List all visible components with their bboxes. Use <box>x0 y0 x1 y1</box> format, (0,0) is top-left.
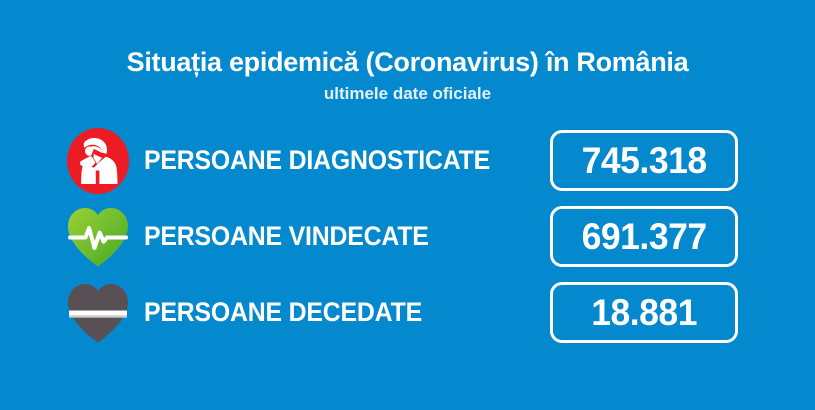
heart-pulse-icon <box>62 203 134 271</box>
value-diagnosed: 745.318 <box>581 142 706 179</box>
stat-row-diagnosed: PERSOANE DIAGNOSTICATE 745.318 <box>0 130 815 191</box>
covid-statistics-infographic: Situația epidemică (Coronavirus) în Româ… <box>0 0 815 410</box>
value-box-recovered: 691.377 <box>550 206 738 267</box>
page-subtitle: ultimele date oficiale <box>0 85 815 104</box>
header: Situația epidemică (Coronavirus) în Româ… <box>0 48 815 103</box>
stat-row-recovered: PERSOANE VINDECATE 691.377 <box>0 206 815 267</box>
statistics-list: PERSOANE DIAGNOSTICATE 745.318 <box>0 130 815 358</box>
value-box-deceased: 18.881 <box>550 282 738 343</box>
value-box-diagnosed: 745.318 <box>550 130 738 191</box>
sick-person-icon <box>62 127 134 195</box>
value-recovered: 691.377 <box>581 218 706 255</box>
value-deceased: 18.881 <box>591 294 697 331</box>
page-title: Situația epidemică (Coronavirus) în Româ… <box>0 48 815 78</box>
heart-flatline-icon <box>62 279 134 347</box>
stat-row-deceased: PERSOANE DECEDATE 18.881 <box>0 282 815 343</box>
